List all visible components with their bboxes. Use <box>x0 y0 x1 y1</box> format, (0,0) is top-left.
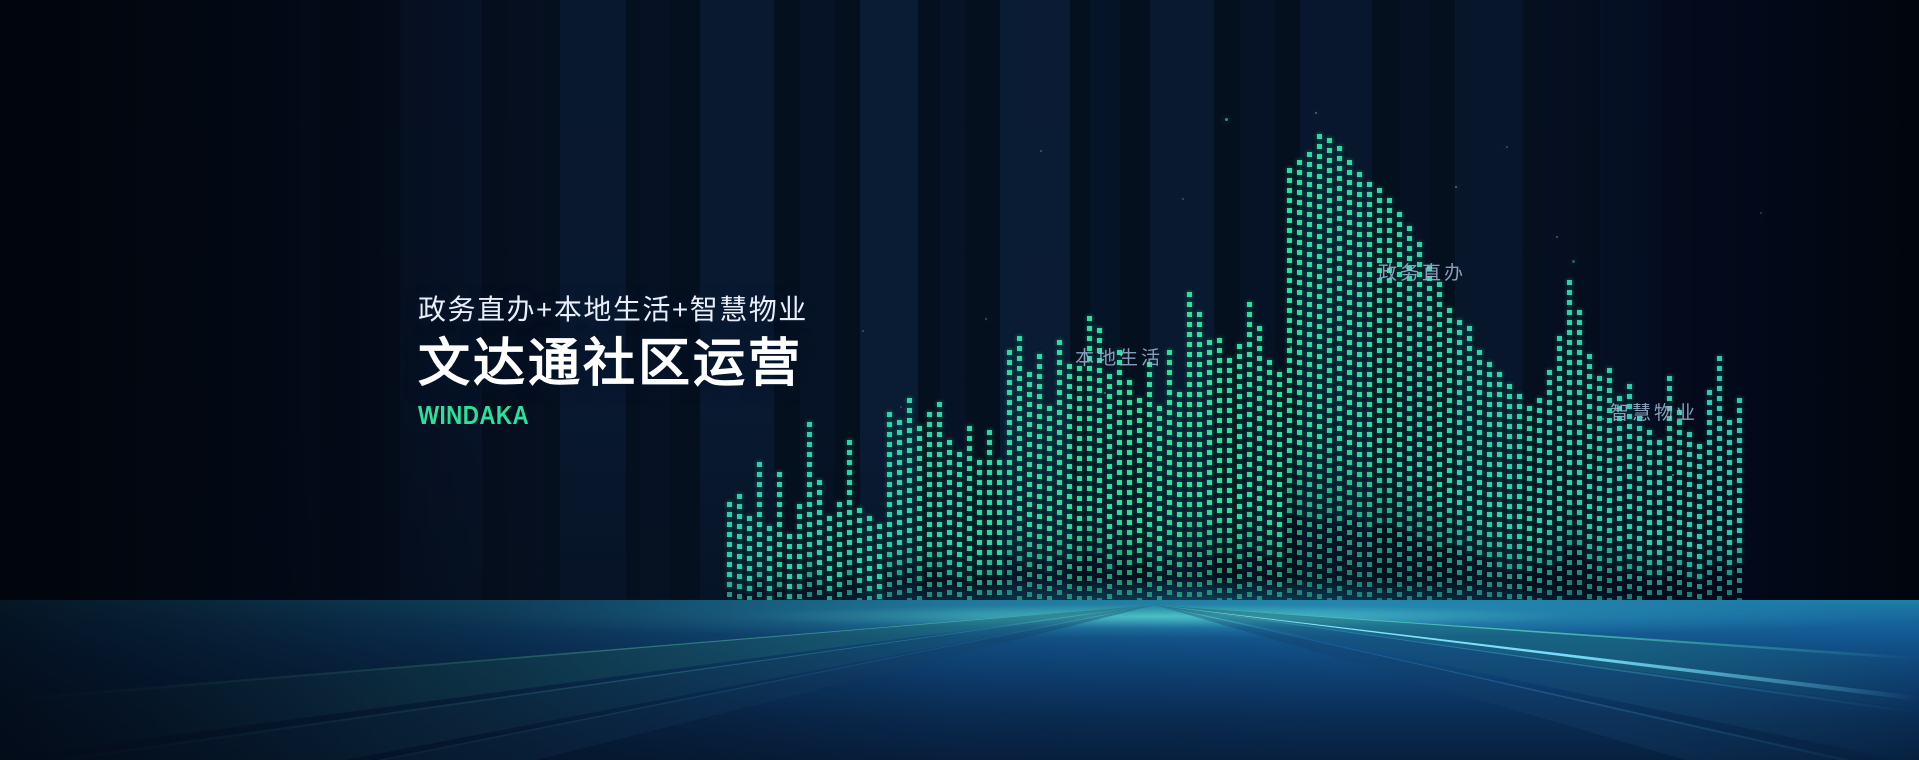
sparkle-particle <box>1672 474 1674 476</box>
sparkle-particle <box>1040 150 1042 152</box>
skyline-bar <box>1007 350 1012 612</box>
skyline-bar <box>1717 356 1722 612</box>
sparkle-particle <box>1315 112 1317 114</box>
skyline-bar <box>1707 390 1712 612</box>
sparkle-particle <box>900 406 902 408</box>
skyline-bar <box>857 508 862 612</box>
skyline-bar <box>1447 308 1452 612</box>
skyline-bar <box>1097 328 1102 612</box>
city-label-smart-estate: 智慧物业 <box>1610 398 1698 425</box>
skyline-bar <box>977 460 982 612</box>
skyline-bar <box>1107 374 1112 612</box>
skyline-bar <box>897 420 902 612</box>
sparkle-particle <box>1430 330 1432 332</box>
skyline-bar <box>937 402 942 612</box>
skyline-bar <box>1297 160 1302 612</box>
headline-block: 政务直办+本地生活+智慧物业 文达通社区运营 WINDAKA <box>418 296 808 428</box>
sparkle-particle <box>1602 418 1604 420</box>
skyline-bar <box>927 412 932 612</box>
skyline-bar <box>1307 152 1312 612</box>
skyline-bar <box>997 460 1002 612</box>
skyline-bar <box>887 412 892 612</box>
skyline-bar <box>1137 398 1142 612</box>
sparkle-particle <box>1290 346 1292 348</box>
skyline-bar <box>1287 168 1292 612</box>
banner-title: 文达通社区运营 <box>418 338 808 390</box>
hero-banner: 本地生活 政务直办 智慧物业 政务直办+本地生活+智慧物业 文达通社区运营 WI… <box>0 0 1919 760</box>
skyline-bar <box>1507 384 1512 612</box>
skyline-bar <box>797 504 802 612</box>
skyline-bar <box>1187 292 1192 612</box>
skyline-bar <box>1437 282 1442 612</box>
dotted-skyline-chart <box>0 0 1919 612</box>
skyline-bar <box>987 430 992 612</box>
skyline-bar <box>1557 336 1562 612</box>
skyline-bar <box>907 398 912 612</box>
skyline-bar <box>1647 430 1652 612</box>
skyline-bar <box>1317 134 1322 612</box>
skyline-bar <box>867 516 872 612</box>
skyline-bar <box>1687 432 1692 612</box>
skyline-bar <box>1057 340 1062 612</box>
skyline-bar <box>1067 364 1072 612</box>
skyline-bar <box>827 516 832 612</box>
skyline-bar <box>1737 398 1742 612</box>
skyline-bar <box>1257 326 1262 612</box>
skyline-bar <box>1337 146 1342 612</box>
skyline-bar <box>1587 354 1592 612</box>
skyline-bar <box>1277 372 1282 612</box>
city-label-gov-service: 政务直办 <box>1378 258 1466 285</box>
skyline-bar <box>777 472 782 612</box>
sparkle-particle <box>1258 556 1260 558</box>
skyline-bar <box>917 426 922 612</box>
skyline-bar <box>1527 406 1532 612</box>
skyline-bar <box>727 502 732 612</box>
skyline-bar <box>1427 266 1432 612</box>
skyline-bar <box>1617 396 1622 612</box>
skyline-bar <box>1677 410 1682 612</box>
sparkle-particle <box>1556 236 1558 238</box>
skyline-bar <box>1207 340 1212 612</box>
skyline-bar <box>1577 310 1582 612</box>
skyline-bar <box>1567 280 1572 612</box>
skyline-bar <box>1327 138 1332 612</box>
sparkle-particle <box>1506 146 1508 148</box>
skyline-bar <box>1117 350 1122 612</box>
sparkle-particle <box>985 318 987 320</box>
skyline-bar <box>1467 326 1472 612</box>
skyline-bar <box>1697 444 1702 612</box>
skyline-bar <box>1167 350 1172 612</box>
skyline-bar <box>1017 336 1022 612</box>
skyline-bar <box>847 440 852 612</box>
banner-subtitle: 政务直办+本地生活+智慧物业 <box>418 296 808 324</box>
sparkle-particle <box>1225 118 1228 121</box>
skyline-bar <box>1417 242 1422 612</box>
skyline-bar <box>1037 354 1042 612</box>
skyline-bar <box>1227 358 1232 612</box>
skyline-bar <box>737 494 742 612</box>
skyline-bar <box>1197 312 1202 612</box>
sparkle-particle <box>1182 198 1184 200</box>
skyline-bar <box>1457 320 1462 612</box>
skyline-bar <box>757 462 762 612</box>
sparkle-particle <box>1728 494 1730 496</box>
skyline-bar <box>1047 406 1052 612</box>
skyline-bar <box>1727 420 1732 612</box>
skyline-bar <box>1367 182 1372 612</box>
city-label-local-life: 本地生活 <box>1075 343 1163 370</box>
skyline-bar <box>747 516 752 612</box>
skyline-bar <box>1637 416 1642 612</box>
skyline-bar <box>1537 398 1542 612</box>
skyline-bar <box>967 426 972 612</box>
skyline-bar <box>1147 362 1152 612</box>
skyline-bar <box>837 502 842 612</box>
brand-wordmark: WINDAKA <box>418 402 753 428</box>
skyline-bar <box>1247 302 1252 612</box>
skyline-bar <box>1347 160 1352 612</box>
skyline-bar <box>1487 362 1492 612</box>
skyline-bar <box>1497 372 1502 612</box>
skyline-bar <box>1267 360 1272 612</box>
skyline-bar <box>1517 394 1522 612</box>
sparkle-particle <box>1104 392 1106 394</box>
skyline-bar <box>957 452 962 612</box>
skyline-bar <box>1077 366 1082 612</box>
sparkle-particle <box>1455 186 1457 188</box>
skyline-bar <box>1217 338 1222 612</box>
skyline-bar <box>1357 172 1362 612</box>
skyline-bar <box>1477 350 1482 612</box>
skyline-bar <box>877 524 882 612</box>
skyline-bar <box>1597 376 1602 612</box>
skyline-bar <box>807 422 812 612</box>
skyline-bar <box>1377 188 1382 612</box>
skyline-bar <box>1547 370 1552 612</box>
skyline-bar <box>1657 440 1662 612</box>
sparkle-particle <box>1760 212 1762 214</box>
skyline-bar <box>817 480 822 612</box>
skyline-bar <box>1177 392 1182 612</box>
sparkle-particle <box>862 330 864 332</box>
skyline-bar <box>1157 406 1162 612</box>
skyline-bar <box>947 440 952 612</box>
skyline-bar <box>1027 372 1032 612</box>
sparkle-particle <box>1348 262 1350 264</box>
perspective-ground <box>0 600 1919 760</box>
skyline-bar <box>1237 344 1242 612</box>
ground-bottom-shade <box>0 600 1919 760</box>
sparkle-particle <box>1572 260 1575 263</box>
skyline-bar <box>1127 380 1132 612</box>
